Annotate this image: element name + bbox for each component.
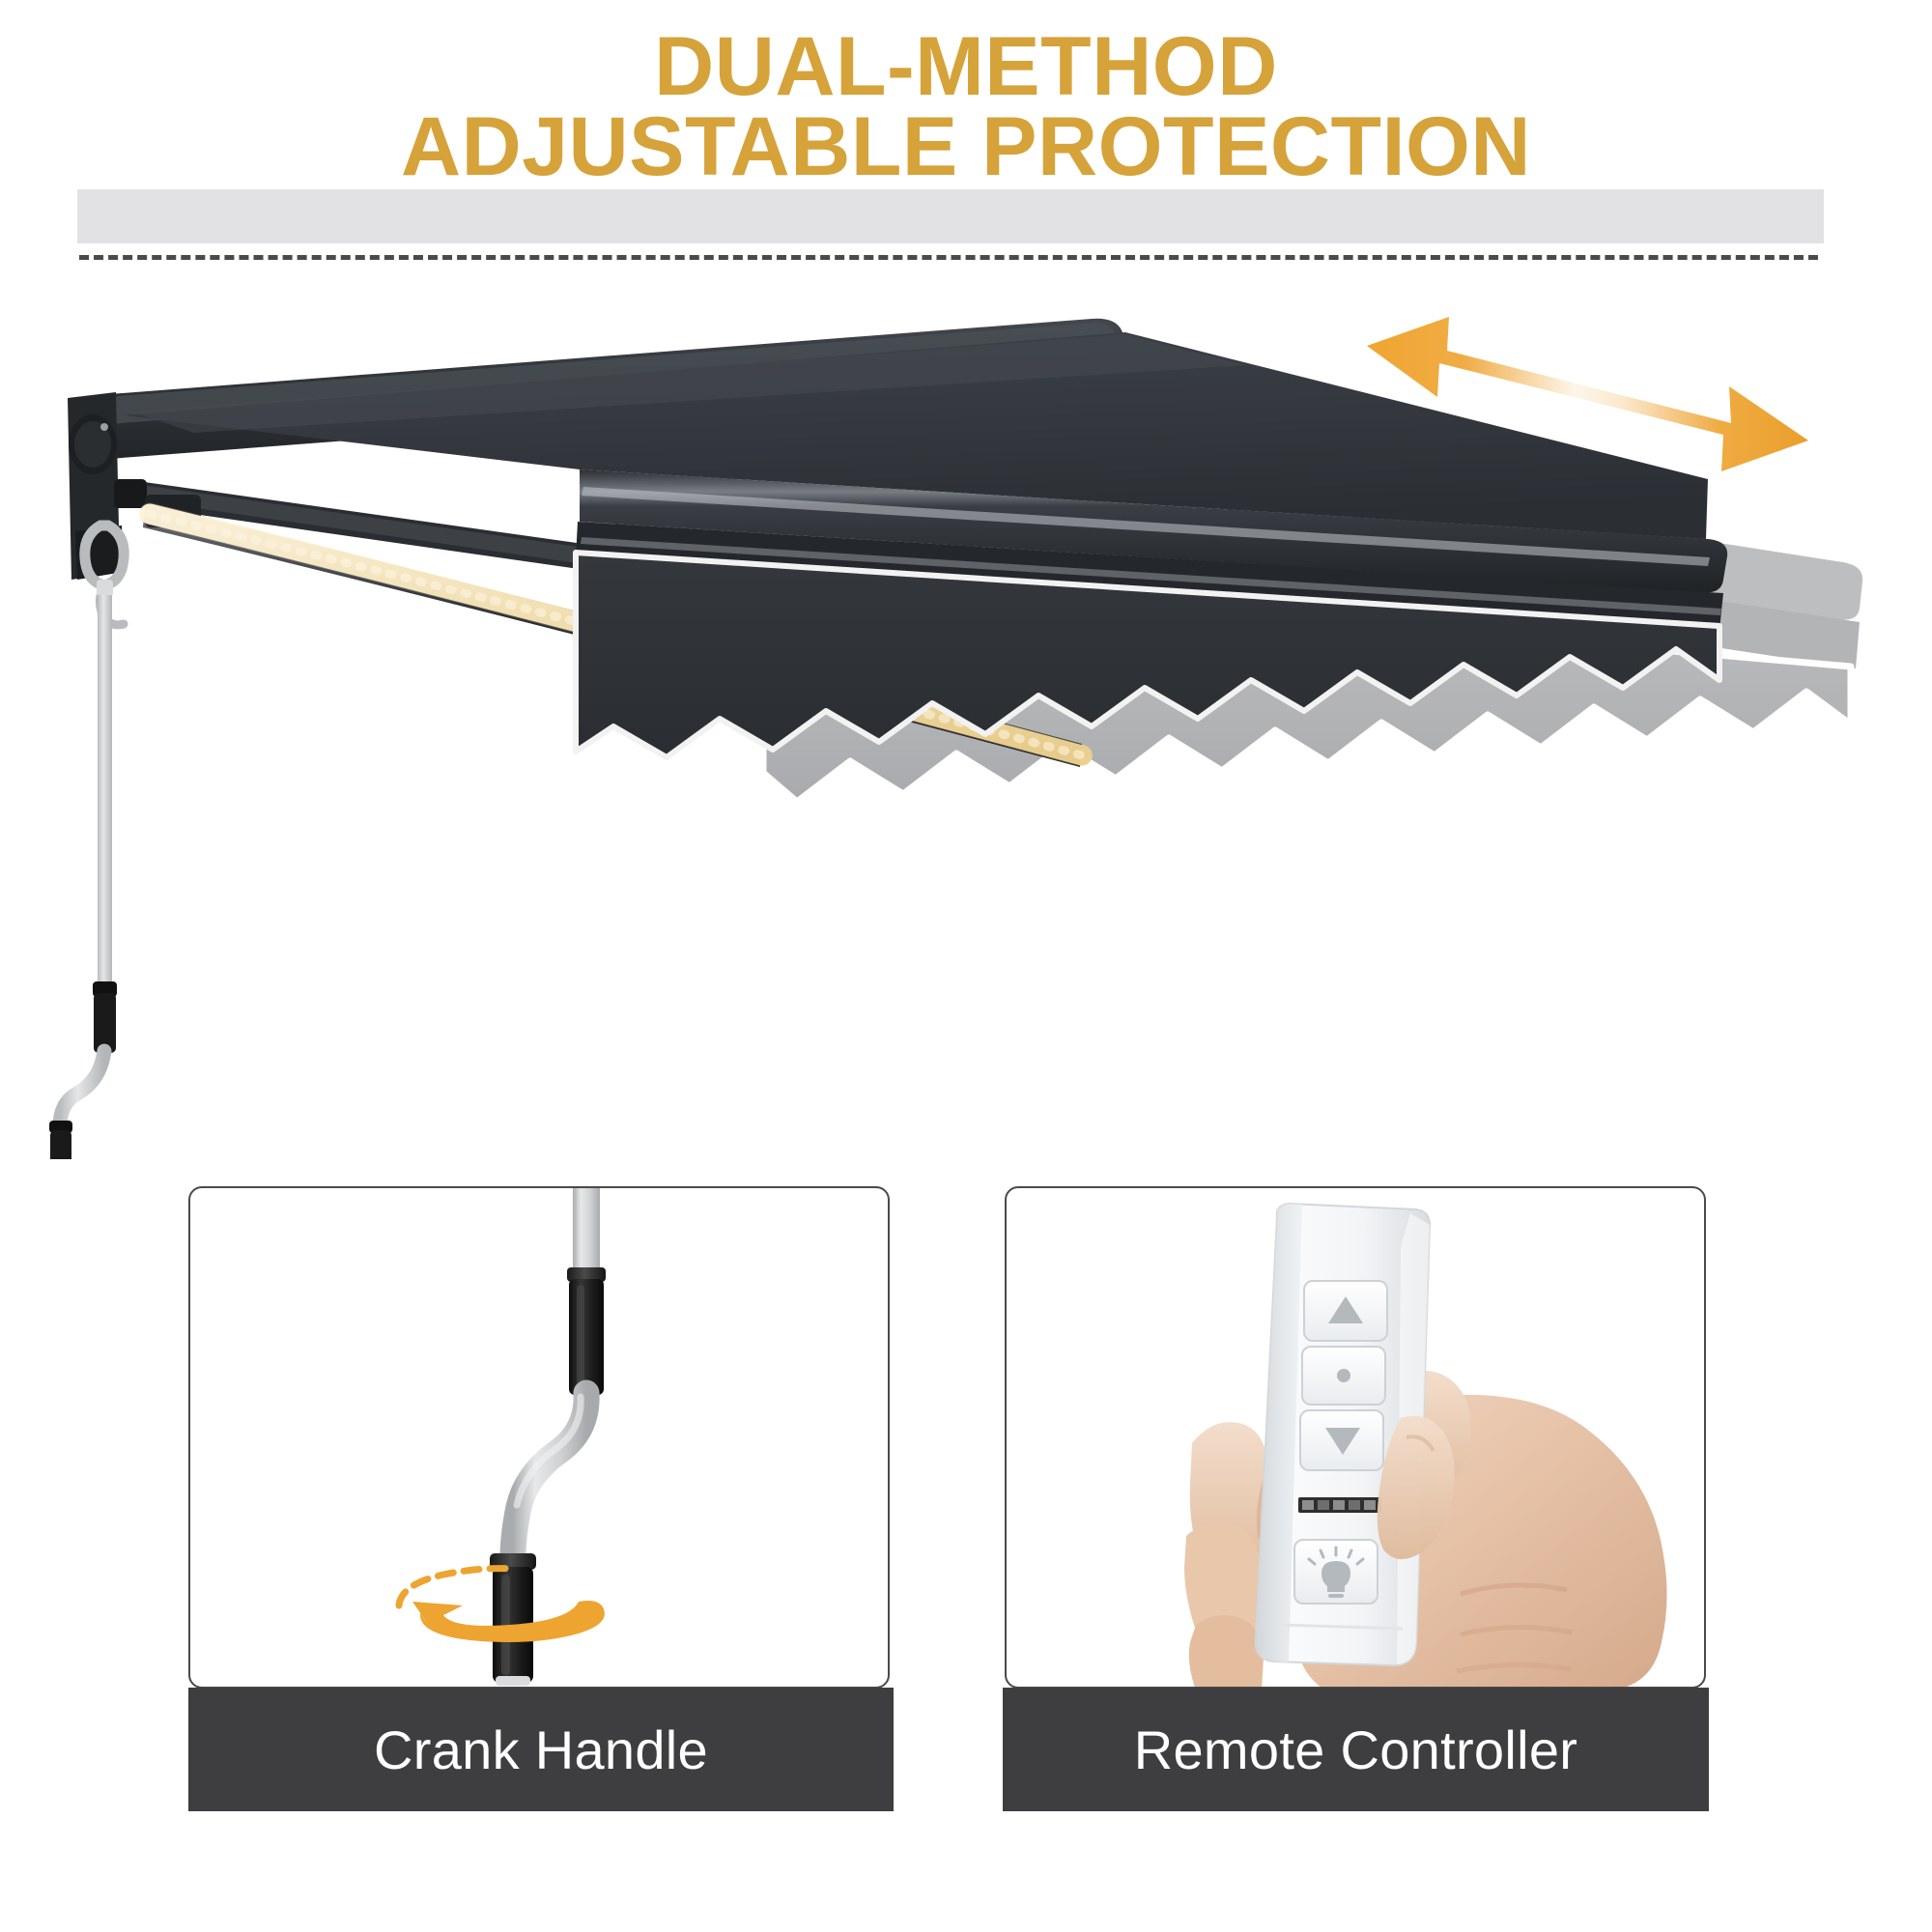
remote-up-button[interactable] <box>1304 1281 1387 1341</box>
crank-handle-card-frame <box>188 1186 890 1689</box>
header-dashed-divider <box>79 255 1818 260</box>
remote-down-button[interactable] <box>1300 1410 1383 1470</box>
crank-handle-caption: Crank Handle <box>188 1688 894 1811</box>
title-line-1: DUAL-METHOD <box>0 27 1932 107</box>
remote-controller-card-frame <box>1005 1186 1706 1689</box>
header-banner: DUAL-METHOD ADJUSTABLE PROTECTION <box>0 0 1932 290</box>
remote-light-button[interactable] <box>1294 1540 1378 1604</box>
remote-controller-caption: Remote Controller <box>1003 1688 1709 1811</box>
dot-icon <box>1337 1369 1350 1382</box>
crank-rod <box>49 526 124 1159</box>
crank-upper-grip <box>569 1279 604 1395</box>
remote-stop-button[interactable] <box>1302 1347 1385 1405</box>
remote-led-indicator <box>1298 1497 1381 1513</box>
remote-controller-illustration <box>1007 1188 1706 1689</box>
hero-product-illustration <box>0 290 1932 1159</box>
header-gray-band <box>77 189 1824 243</box>
crank-upper-shaft <box>573 1188 600 1271</box>
page-title: DUAL-METHOD ADJUSTABLE PROTECTION <box>0 27 1932 188</box>
feature-card-row: Crank Handle <box>0 1186 1932 1824</box>
crank-handle-illustration <box>190 1188 890 1689</box>
feature-card-remote-controller[interactable]: Remote Controller <box>1005 1186 1706 1810</box>
awning-diagram <box>0 290 1932 1159</box>
title-line-2: ADJUSTABLE PROTECTION <box>0 107 1932 187</box>
feature-card-crank-handle[interactable]: Crank Handle <box>188 1186 890 1810</box>
